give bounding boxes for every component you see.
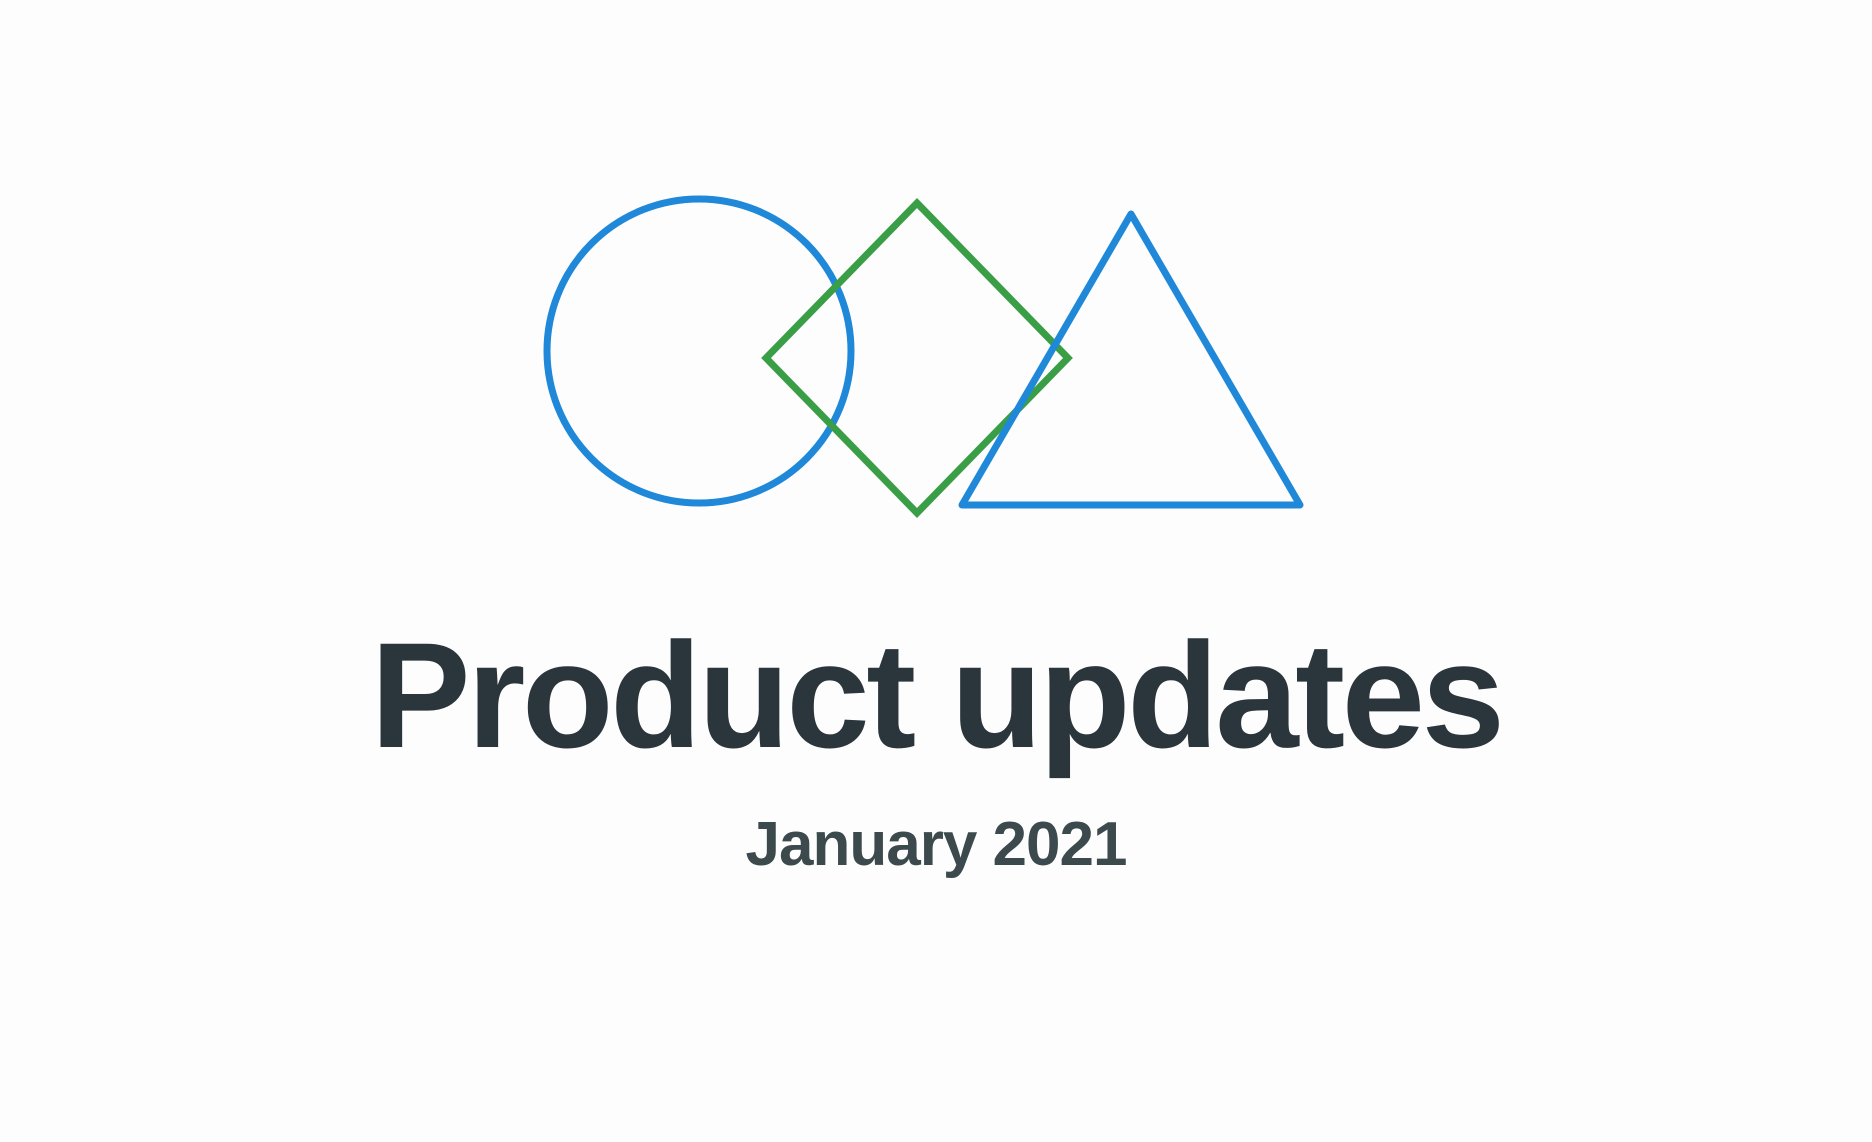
page-subtitle: January 2021 xyxy=(0,770,1872,876)
circle-icon xyxy=(547,199,851,503)
triangle-icon xyxy=(962,214,1300,505)
logo-svg xyxy=(500,160,1380,560)
three-shapes-logo xyxy=(500,160,1380,560)
slide-canvas: Product updates January 2021 xyxy=(0,0,1872,1142)
headline-block: Product updates January 2021 xyxy=(0,620,1872,876)
page-title: Product updates xyxy=(0,620,1872,770)
